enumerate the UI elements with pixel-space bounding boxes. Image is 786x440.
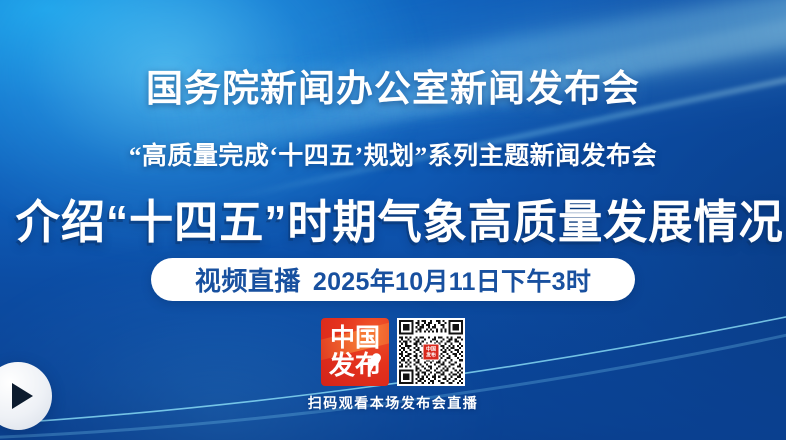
live-broadcast-label: 视频直播 xyxy=(195,261,301,298)
session-headline: 介绍“十四五”时期气象高质量发展情况 xyxy=(16,186,771,252)
qr-center-logo: 中国 发布 xyxy=(423,344,440,361)
live-broadcast-datetime: 2025年10月11日下午3时 xyxy=(313,262,591,298)
live-broadcast-badge: 视频直播 2025年10月11日下午3时 xyxy=(151,258,635,301)
broadcast-poster: 国务院新闻办公室新闻发布会 “高质量完成‘十四五’规划”系列主题新闻发布会 介绍… xyxy=(0,0,786,440)
china-release-logo: 中国 发布 xyxy=(321,318,389,386)
poster-content: 国务院新闻办公室新闻发布会 “高质量完成‘十四五’规划”系列主题新闻发布会 介绍… xyxy=(0,0,786,440)
qr-center-line-2: 发布 xyxy=(426,352,436,358)
series-subtitle: “高质量完成‘十四五’规划”系列主题新闻发布会 xyxy=(0,136,786,172)
brand-logo-line-1: 中国 xyxy=(330,325,380,352)
page-title: 国务院新闻办公室新闻发布会 xyxy=(0,58,786,112)
footer-row: 中国 发布 xyxy=(268,318,518,386)
footer-block: 中国 发布 xyxy=(268,318,518,413)
scan-caption: 扫码观看本场发布会直播 xyxy=(268,393,518,413)
qr-code[interactable]: 中国 发布 xyxy=(397,318,465,386)
play-triangle-icon xyxy=(12,383,33,409)
